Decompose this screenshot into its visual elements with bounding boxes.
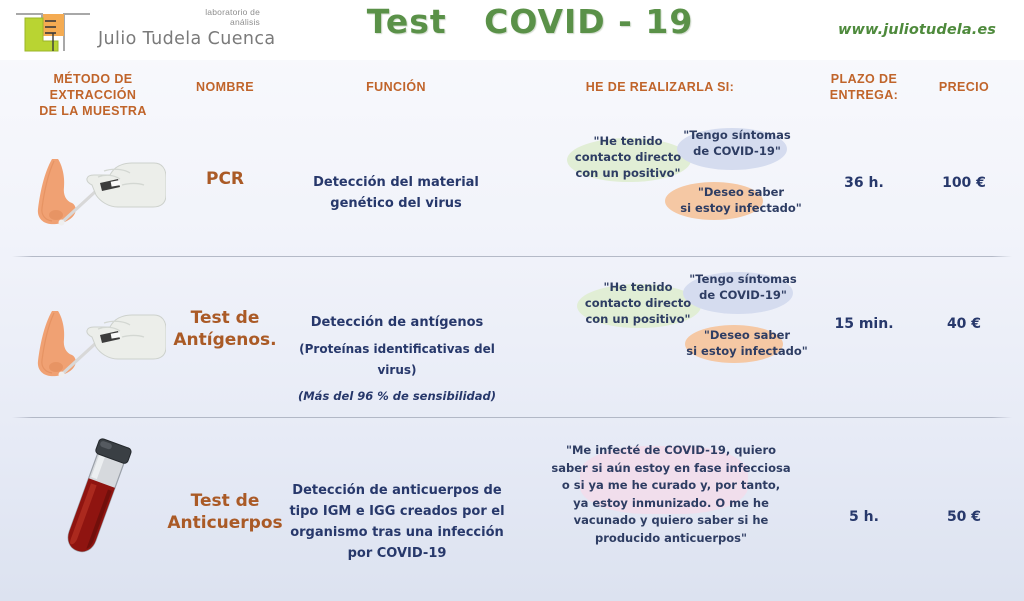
row-reasons: "He tenido contacto directo con un posit… xyxy=(520,257,800,417)
row-delivery: 15 min. xyxy=(805,316,923,332)
column-header-precio: PRECIO xyxy=(910,79,1018,95)
table-row: Test de Anticuerpos Detección de anticue… xyxy=(0,418,1024,601)
row-name: Test de Antígenos. xyxy=(150,307,300,351)
table-row: Test de Antígenos. Detección de antígeno… xyxy=(0,257,1024,417)
column-header-funcion: FUNCIÓN xyxy=(300,79,492,95)
row-reasons: "He tenido contacto directo con un posit… xyxy=(520,120,800,256)
poster-root: laboratorio de análisis Julio Tudela Cue… xyxy=(0,0,1024,601)
nose-swab-icon xyxy=(14,145,166,231)
column-header-plazo: PLAZO DE ENTREGA: xyxy=(805,71,923,103)
logo-wordmark: laboratorio de análisis Julio Tudela Cue… xyxy=(98,8,262,49)
logo-subtitle-line2: análisis xyxy=(98,18,262,28)
beaker-logo-icon xyxy=(12,8,94,56)
reason-text: "Me infecté de COVID-19, quiero saber si… xyxy=(542,442,800,547)
column-header-realizarla: HE DE REALIZARLA SI: xyxy=(520,79,800,95)
row-delivery: 5 h. xyxy=(805,509,923,525)
lab-logo: laboratorio de análisis Julio Tudela Cue… xyxy=(12,6,262,56)
reason-text: "Deseo saber si estoy infectado" xyxy=(678,184,804,216)
logo-lab-name: Julio Tudela Cuenca xyxy=(98,29,262,49)
reason-text: "Tengo síntomas de COVID-19" xyxy=(676,127,798,159)
column-header-nombre: NOMBRE xyxy=(150,79,300,95)
row-name: PCR xyxy=(150,168,300,190)
table-row: PCR Detección del material genético del … xyxy=(0,120,1024,256)
row-price: 50 € xyxy=(910,509,1018,525)
row-function: Detección de antígenos (Proteínas identi… xyxy=(290,312,504,407)
row-function-note: (Más del 96 % de sensibilidad) xyxy=(290,386,504,407)
row-function-main: Detección de antígenos xyxy=(311,315,484,330)
reason-text: "Tengo síntomas de COVID-19" xyxy=(682,271,804,303)
blood-tube-icon xyxy=(48,434,144,564)
page-title: Test COVID - 19 xyxy=(320,2,740,41)
reason-text: "Deseo saber si estoy infectado" xyxy=(684,327,810,359)
nose-swab-icon xyxy=(14,297,166,383)
row-function: Detección del material genético del viru… xyxy=(298,172,494,214)
row-price: 100 € xyxy=(910,175,1018,191)
row-price: 40 € xyxy=(910,316,1018,332)
row-function-sub: (Proteínas identificativas del virus) xyxy=(290,339,504,381)
website-url[interactable]: www.juliotudela.es xyxy=(838,22,996,38)
row-function-main: Detección del material genético del viru… xyxy=(313,175,479,211)
row-delivery: 36 h. xyxy=(805,175,923,191)
row-function-main: Detección de anticuerpos de tipo IGM e I… xyxy=(289,483,504,561)
row-name: Test de Anticuerpos xyxy=(150,490,300,534)
row-reasons: "Me infecté de COVID-19, quiero saber si… xyxy=(520,418,800,601)
row-function: Detección de anticuerpos de tipo IGM e I… xyxy=(282,480,512,564)
